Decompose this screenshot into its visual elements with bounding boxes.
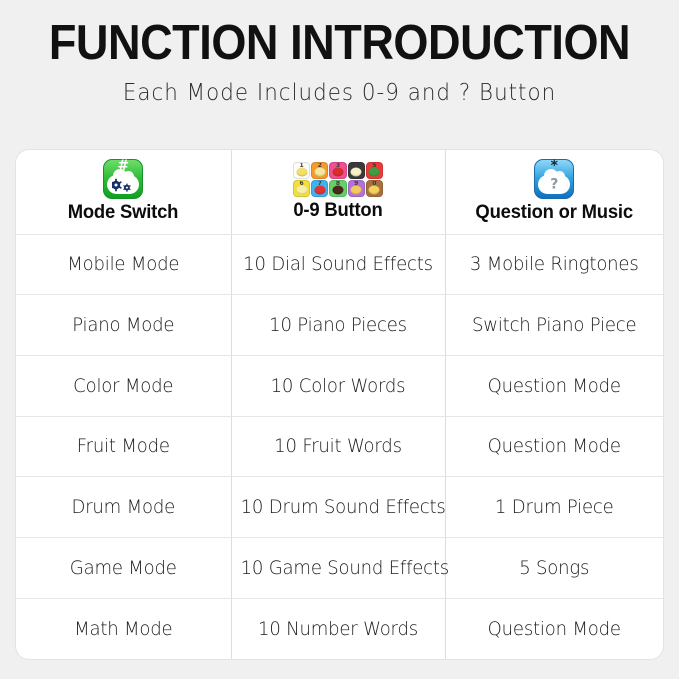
table-cell-mode: Color Mode [21,355,225,416]
keypad-key-number: 2 [312,162,327,169]
keypad-key-number: 1 [294,162,309,169]
keypad-key-number: 3 [330,162,345,169]
column-header-mode-switch: # [16,150,231,234]
function-introduction-page: FUNCTION INTRODUCTION Each Mode Includes… [0,0,679,679]
table-cell-question: Question Mode [450,355,657,416]
function-table-card: # [16,150,663,659]
keypad-key-0: 0 [366,180,383,197]
page-subtitle: Each Mode Includes 0-9 and ? Button [24,78,655,108]
table-cell-buttons: 10 Game Sound Effects [236,538,439,599]
keypad-key-7: 7 [311,180,328,197]
question-music-icon: * ? [534,159,574,199]
keypad-key-number: 6 [294,180,309,187]
keypad-key-3: 3 [329,162,346,179]
table-cell-mode: Drum Mode [21,477,225,538]
table-cell-buttons: 10 Dial Sound Effects [236,234,439,295]
table-cell-question: 5 Songs [450,538,657,599]
table-header-row: # [16,150,663,234]
table-cell-mode: Game Mode [21,538,225,599]
keypad-key-1: 1 [293,162,310,179]
keypad-key-2: 2 [311,162,328,179]
gears-icon [107,178,139,192]
table-row: Drum Mode10 Drum Sound Effects1 Drum Pie… [16,477,663,538]
table-body: Mobile Mode10 Dial Sound Effects3 Mobile… [16,234,663,659]
column-header-number-buttons: 1234567890 0-9 Button [231,150,445,234]
page-header: FUNCTION INTRODUCTION Each Mode Includes… [0,0,679,108]
keypad-key-5: 5 [366,162,383,179]
keypad-key-4: 4 [348,162,365,179]
table-row: Mobile Mode10 Dial Sound Effects3 Mobile… [16,234,663,295]
keypad-key-number: 4 [349,162,364,169]
number-keypad-icon: 1234567890 [293,162,383,197]
keypad-key-9: 9 [348,180,365,197]
function-table: # [16,150,663,659]
keypad-key-8: 8 [329,180,346,197]
table-cell-mode: Math Mode [21,598,225,659]
table-cell-question: Question Mode [450,416,657,477]
column-header-question-music: * ? Question or Music [445,150,663,234]
table-row: Piano Mode10 Piano PiecesSwitch Piano Pi… [16,295,663,356]
table-cell-buttons: 10 Fruit Words [236,416,439,477]
table-cell-question: 1 Drum Piece [450,477,657,538]
mode-switch-icon: # [103,159,143,199]
cloud-shape [107,175,139,194]
table-cell-buttons: 10 Piano Pieces [236,295,439,356]
column-header-label-mode-switch: Mode Switch [68,202,179,224]
table-cell-mode: Piano Mode [21,295,225,356]
question-mark-icon: ? [538,177,570,191]
cloud-shape: ? [538,175,570,194]
table-cell-buttons: 10 Drum Sound Effects [236,477,439,538]
keypad-key-6: 6 [293,180,310,197]
column-header-label-question-music: Question or Music [476,202,633,224]
keypad-key-number: 8 [330,180,345,187]
table-cell-buttons: 10 Number Words [236,598,439,659]
keypad-key-number: 5 [367,162,382,169]
table-row: Game Mode10 Game Sound Effects5 Songs [16,538,663,599]
table-cell-question: Question Mode [450,598,657,659]
table-row: Color Mode10 Color WordsQuestion Mode [16,355,663,416]
table-cell-mode: Fruit Mode [21,416,225,477]
keypad-key-number: 7 [312,180,327,187]
page-title: FUNCTION INTRODUCTION [27,14,652,72]
table-row: Math Mode10 Number WordsQuestion Mode [16,598,663,659]
table-cell-buttons: 10 Color Words [236,355,439,416]
table-row: Fruit Mode10 Fruit WordsQuestion Mode [16,416,663,477]
table-cell-question: 3 Mobile Ringtones [450,234,657,295]
column-header-label-number-buttons: 0-9 Button [293,200,382,222]
keypad-key-number: 0 [367,180,382,187]
table-header: # [16,150,663,234]
keypad-key-number: 9 [349,180,364,187]
table-cell-question: Switch Piano Piece [450,295,657,356]
table-cell-mode: Mobile Mode [21,234,225,295]
